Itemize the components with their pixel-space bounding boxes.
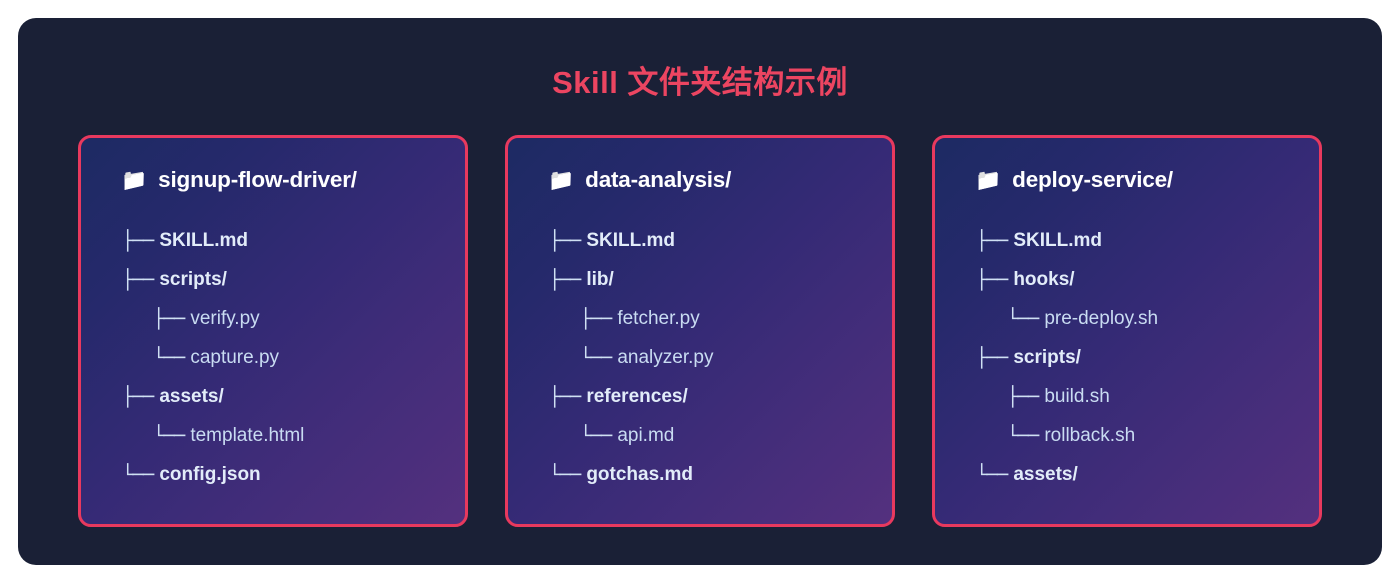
tree-row: └──config.json [122,455,465,494]
tree-row: └──gotchas.md [549,455,892,494]
folder-icon: 📁 [121,170,147,191]
slide-panel: Skill 文件夹结构示例 📁signup-flow-driver/├──SKI… [18,18,1382,565]
card-folder-name: data-analysis/ [585,167,731,193]
tree-row-label: SKILL.md [1013,230,1102,252]
tree-branch-icon: └── [580,347,611,369]
tree-branch-icon: └── [153,347,184,369]
tree-branch-icon: ├── [549,230,580,252]
tree-row-label: references/ [586,386,687,408]
tree-row: ├──SKILL.md [122,221,465,260]
tree-row: └──template.html [122,416,465,455]
tree-row: ├──SKILL.md [549,221,892,260]
tree-branch-icon: ├── [1007,386,1038,408]
tree-branch-icon: ├── [580,308,611,330]
tree-row: ├──verify.py [122,299,465,338]
tree-branch-icon: ├── [122,386,153,408]
tree-row: └──analyzer.py [549,338,892,377]
tree-row: ├──scripts/ [976,338,1319,377]
tree-branch-icon: ├── [976,269,1007,291]
tree-row-label: assets/ [159,386,223,408]
tree-row: ├──build.sh [976,377,1319,416]
tree-row-label: capture.py [190,347,279,369]
tree-row-label: template.html [190,425,304,447]
tree-row-label: scripts/ [159,269,227,291]
tree-row-label: gotchas.md [586,464,693,486]
page-title: Skill 文件夹结构示例 [18,57,1382,102]
tree-row-label: api.md [617,425,674,447]
tree-branch-icon: └── [153,425,184,447]
file-tree: ├──SKILL.md├──hooks/└──pre-deploy.sh├──s… [935,221,1319,494]
tree-branch-icon: ├── [122,230,153,252]
tree-row-label: lib/ [586,269,613,291]
card-header: 📁data-analysis/ [508,165,892,195]
tree-row-label: fetcher.py [617,308,699,330]
tree-row-label: verify.py [190,308,259,330]
folder-icon: 📁 [975,170,1001,191]
card-header: 📁signup-flow-driver/ [81,165,465,195]
tree-row: ├──references/ [549,377,892,416]
tree-branch-icon: └── [1007,425,1038,447]
tree-row: ├──hooks/ [976,260,1319,299]
card-folder-name: signup-flow-driver/ [158,167,357,193]
tree-row: └──rollback.sh [976,416,1319,455]
tree-branch-icon: ├── [976,230,1007,252]
file-tree: ├──SKILL.md├──lib/├──fetcher.py└──analyz… [508,221,892,494]
tree-row: └──pre-deploy.sh [976,299,1319,338]
tree-branch-icon: └── [549,464,580,486]
skill-card: 📁signup-flow-driver/├──SKILL.md├──script… [78,135,468,527]
tree-row: ├──assets/ [122,377,465,416]
tree-row: ├──scripts/ [122,260,465,299]
tree-row: └──api.md [549,416,892,455]
tree-row-label: analyzer.py [617,347,713,369]
tree-row-label: build.sh [1044,386,1110,408]
tree-row-label: SKILL.md [159,230,248,252]
tree-row-label: config.json [159,464,260,486]
tree-row-label: assets/ [1013,464,1077,486]
tree-branch-icon: └── [122,464,153,486]
file-tree: ├──SKILL.md├──scripts/├──verify.py└──cap… [81,221,465,494]
tree-row-label: hooks/ [1013,269,1074,291]
tree-row-label: pre-deploy.sh [1044,308,1158,330]
tree-row-label: scripts/ [1013,347,1081,369]
tree-branch-icon: └── [976,464,1007,486]
skill-card: 📁data-analysis/├──SKILL.md├──lib/├──fetc… [505,135,895,527]
tree-branch-icon: └── [580,425,611,447]
card-folder-name: deploy-service/ [1012,167,1173,193]
tree-row: ├──lib/ [549,260,892,299]
tree-branch-icon: ├── [549,386,580,408]
tree-branch-icon: ├── [976,347,1007,369]
tree-row: ├──fetcher.py [549,299,892,338]
skill-card: 📁deploy-service/├──SKILL.md├──hooks/└──p… [932,135,1322,527]
skill-cards-row: 📁signup-flow-driver/├──SKILL.md├──script… [78,135,1322,527]
folder-icon: 📁 [548,170,574,191]
tree-branch-icon: ├── [122,269,153,291]
tree-row: └──capture.py [122,338,465,377]
card-header: 📁deploy-service/ [935,165,1319,195]
tree-branch-icon: └── [1007,308,1038,330]
tree-row: ├──SKILL.md [976,221,1319,260]
tree-row: └──assets/ [976,455,1319,494]
tree-branch-icon: ├── [549,269,580,291]
tree-row-label: rollback.sh [1044,425,1135,447]
tree-branch-icon: ├── [153,308,184,330]
tree-row-label: SKILL.md [586,230,675,252]
